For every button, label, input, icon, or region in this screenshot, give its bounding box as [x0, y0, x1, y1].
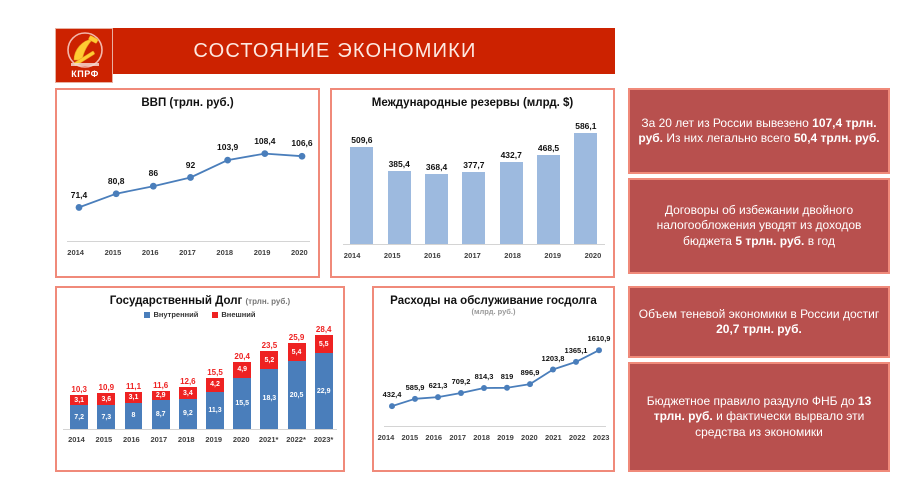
stacked-segment-internal: 7,3	[97, 405, 115, 429]
stacked-segment-internal: 7,2	[70, 405, 88, 429]
bar-group: 385,4	[381, 114, 418, 244]
chart-plot-service: 432,4585,9621,3709,2814,3819896,91203,81…	[374, 316, 613, 444]
data-point-label: 819	[501, 372, 514, 381]
bar	[537, 155, 560, 244]
x-tick-label: 2020	[517, 433, 541, 442]
line-series	[374, 316, 613, 444]
data-point-label: 108,4	[254, 136, 275, 146]
hammer-sickle-icon	[60, 30, 110, 72]
stacked-bar-total-label: 12,6	[180, 377, 196, 386]
stacked-segment-external: 5,2	[260, 351, 278, 368]
data-point	[113, 191, 120, 198]
legend-swatch-external	[212, 312, 218, 318]
x-tick-label: 2019	[494, 433, 518, 442]
legend-swatch-internal	[144, 312, 150, 318]
stacked-bar: 3,67,3	[97, 393, 115, 429]
data-point-label: 86	[149, 168, 158, 178]
x-axis-debt	[63, 429, 338, 430]
x-tick-label: 2017	[145, 435, 172, 444]
bar-value-label: 468,5	[538, 143, 559, 153]
chart-plot-debt: 10,33,17,210,93,67,311,13,1811,62,98,712…	[57, 319, 343, 445]
stacked-bar-total-label: 10,3	[71, 385, 87, 394]
chart-title-reserves: Международные резервы (млрд. $)	[332, 90, 613, 110]
x-axis-labels-reserves: 2014201520162017201820192020	[332, 251, 613, 260]
stacked-segment-internal: 11,3	[206, 392, 224, 429]
bar-value-label: 509,6	[351, 135, 372, 145]
bar-value-label: 368,4	[426, 162, 447, 172]
stacked-bar-group: 20,44,915,5	[229, 319, 256, 429]
data-point-label: 621,3	[429, 381, 448, 390]
stacked-bar-total-label: 23,5	[262, 341, 278, 350]
stacked-segment-external: 4,9	[233, 362, 251, 378]
x-tick-label: 2021	[541, 433, 565, 442]
x-tick-label: 2014	[332, 251, 372, 260]
panel-text: Бюджетное правило раздуло ФНБ до 13 трлн…	[638, 394, 880, 440]
bar-group: 377,7	[455, 114, 492, 244]
x-axis-labels-gdp: 2014201520162017201820192020	[57, 248, 318, 257]
data-point	[224, 157, 231, 164]
bar-group: 468,5	[530, 114, 567, 244]
data-point-label: 896,9	[521, 368, 540, 377]
data-point	[596, 347, 602, 353]
stacked-bar-group: 10,33,17,2	[66, 319, 93, 429]
stacked-segment-external: 5,5	[315, 335, 333, 353]
data-point-label: 432,4	[383, 390, 402, 399]
data-point-label: 103,9	[217, 142, 238, 152]
bar-value-label: 432,7	[501, 150, 522, 160]
fact-panel-capital-outflow: За 20 лет из России вывезено 107,4 трлн.…	[628, 88, 890, 174]
x-tick-label: 2020	[281, 248, 318, 257]
stacked-bar-total-label: 11,1	[126, 382, 141, 391]
stacked-segment-external: 5,4	[288, 343, 306, 361]
x-tick-label: 2018	[470, 433, 494, 442]
stacked-segment-internal: 8,7	[152, 400, 170, 429]
fact-panel-shadow-economy: Объем теневой экономики в России достиг …	[628, 286, 890, 358]
data-point-label: 92	[186, 160, 195, 170]
stacked-bar: 2,98,7	[152, 391, 170, 429]
kprf-logo: КПРФ	[55, 28, 113, 83]
data-point-label: 71,4	[71, 190, 88, 200]
x-tick-label: 2017	[169, 248, 206, 257]
bar-value-label: 586,1	[575, 121, 596, 131]
page-title: СОСТОЯНИЕ ЭКОНОМИКИ	[55, 28, 615, 74]
x-tick-label: 2021*	[255, 435, 282, 444]
bar-group: 432,7	[493, 114, 530, 244]
stacked-bar: 5,420,5	[288, 343, 306, 429]
stacked-bar: 4,915,5	[233, 362, 251, 429]
chart-title-debt: Государственный Долг (трлн. руб.)	[57, 288, 343, 308]
data-point	[550, 367, 556, 373]
stacked-bar: 3,49,2	[179, 387, 197, 429]
chart-plot-gdp: 71,480,88692103,9108,4106,6 201420152016…	[57, 110, 318, 260]
stacked-bar-group: 11,62,98,7	[147, 319, 174, 429]
x-axis-gdp	[67, 241, 310, 242]
data-point-label: 585,9	[406, 383, 425, 392]
stacked-bar-total-label: 15,5	[207, 368, 223, 377]
x-tick-label: 2015	[372, 251, 412, 260]
x-tick-label: 2015	[90, 435, 117, 444]
chart-title-gdp: ВВП (трлн. руб.)	[57, 90, 318, 110]
x-axis-labels-service: 2014201520162017201820192020202120222023	[374, 433, 613, 442]
chart-card-reserves: Международные резервы (млрд. $) 509,6385…	[330, 88, 615, 278]
x-tick-label: 2020	[573, 251, 613, 260]
x-tick-label: 2016	[412, 251, 452, 260]
logo-label: КПРФ	[56, 69, 114, 79]
stacked-bar: 5,522,9	[315, 335, 333, 429]
stacked-bar-group: 23,55,218,3	[256, 319, 283, 429]
panel-text: Договоры об избежании двойного налогообл…	[638, 203, 880, 249]
chart-plot-reserves: 509,6385,4368,4377,7432,7468,5586,1 2014…	[332, 110, 613, 262]
data-point	[150, 183, 157, 190]
stacked-segment-internal: 18,3	[260, 369, 278, 430]
stacked-segment-external: 4,2	[206, 378, 224, 392]
bar-group: 509,6	[343, 114, 380, 244]
chart-card-service: Расходы на обслуживание госдолга (млрд. …	[372, 286, 615, 472]
x-tick-label: 2023*	[310, 435, 337, 444]
bar	[574, 133, 597, 245]
stacked-segment-internal: 9,2	[179, 399, 197, 430]
data-point	[412, 396, 418, 402]
data-point	[76, 204, 83, 211]
stacked-bar-total-label: 28,4	[316, 325, 332, 334]
stacked-bar-group: 15,54,211,3	[201, 319, 228, 429]
data-point	[187, 174, 194, 181]
bar-value-label: 385,4	[389, 159, 410, 169]
chart-legend-debt: Внутренний Внешний	[57, 310, 343, 319]
bar-value-label: 377,7	[463, 160, 484, 170]
x-tick-label: 2014	[57, 248, 94, 257]
stacked-bar-total-label: 10,9	[99, 383, 115, 392]
bar	[462, 172, 485, 244]
panel-text: За 20 лет из России вывезено 107,4 трлн.…	[638, 116, 880, 147]
header-banner: СОСТОЯНИЕ ЭКОНОМИКИ	[55, 28, 615, 74]
x-tick-label: 2015	[94, 248, 131, 257]
chart-card-gdp: ВВП (трлн. руб.) 71,480,88692103,9108,41…	[55, 88, 320, 278]
stacked-segment-external: 3,6	[97, 393, 115, 405]
x-tick-label: 2019	[243, 248, 280, 257]
infographic-page: СОСТОЯНИЕ ЭКОНОМИКИ КПРФ ВВП (трлн. руб.…	[0, 0, 900, 490]
stacked-bar-total-label: 20,4	[234, 352, 250, 361]
stacked-bar-total-label: 25,9	[289, 333, 305, 342]
line-series	[57, 110, 318, 260]
x-tick-label: 2022*	[282, 435, 309, 444]
stacked-bar-group: 10,93,67,3	[93, 319, 120, 429]
x-tick-label: 2016	[132, 248, 169, 257]
stacked-segment-internal: 20,5	[288, 361, 306, 429]
fact-panel-double-taxation: Договоры об избежании двойного налогообл…	[628, 178, 890, 274]
data-point-label: 106,6	[291, 138, 312, 148]
data-point	[435, 394, 441, 400]
stacked-segment-internal: 15,5	[233, 378, 251, 429]
stacked-segment-internal: 8	[125, 403, 143, 430]
stacked-segment-internal: 22,9	[315, 353, 333, 429]
bar	[388, 171, 411, 244]
bar	[425, 174, 448, 244]
x-tick-label: 2014	[374, 433, 398, 442]
fact-panel-budget-rule: Бюджетное правило раздуло ФНБ до 13 трлн…	[628, 362, 890, 472]
data-point	[527, 381, 533, 387]
panel-text: Объем теневой экономики в России достиг …	[638, 307, 880, 338]
data-point	[389, 403, 395, 409]
legend-label-external: Внешний	[221, 310, 255, 319]
chart-unit-service: (млрд. руб.)	[374, 307, 613, 316]
bar	[350, 147, 373, 244]
stacked-bar-total-label: 11,6	[153, 381, 168, 390]
data-point-label: 80,8	[108, 176, 125, 186]
stacked-bar: 4,211,3	[206, 378, 224, 429]
bar-group: 368,4	[418, 114, 455, 244]
legend-item-internal: Внутренний	[144, 310, 198, 319]
x-tick-label: 2019	[533, 251, 573, 260]
data-point-label: 709,2	[452, 377, 471, 386]
x-axis-service	[384, 426, 606, 427]
x-tick-label: 2014	[63, 435, 90, 444]
bar-group: 586,1	[567, 114, 604, 244]
data-point	[504, 385, 510, 391]
stacked-bar: 5,218,3	[260, 351, 278, 429]
data-point-label: 1203,8	[542, 354, 565, 363]
data-point	[299, 153, 306, 160]
x-tick-label: 2018	[173, 435, 200, 444]
stacked-bar-group: 12,63,49,2	[174, 319, 201, 429]
stacked-bar: 3,18	[125, 392, 143, 429]
stacked-bar: 3,17,2	[70, 395, 88, 429]
stacked-segment-external: 2,9	[152, 391, 170, 401]
chart-unit-debt: (трлн. руб.)	[246, 297, 291, 306]
data-point	[261, 150, 268, 157]
chart-card-debt: Государственный Долг (трлн. руб.) Внутре…	[55, 286, 345, 472]
stacked-segment-external: 3,1	[125, 392, 143, 402]
x-tick-label: 2023	[589, 433, 613, 442]
x-tick-label: 2016	[118, 435, 145, 444]
x-axis-reserves	[343, 244, 604, 245]
x-tick-label: 2016	[422, 433, 446, 442]
data-point-label: 1610,9	[588, 334, 611, 343]
data-point-label: 1365,1	[565, 346, 588, 355]
x-tick-label: 2017	[446, 433, 470, 442]
data-point	[458, 390, 464, 396]
x-tick-label: 2020	[227, 435, 254, 444]
x-tick-label: 2018	[206, 248, 243, 257]
x-tick-label: 2017	[452, 251, 492, 260]
x-tick-label: 2022	[565, 433, 589, 442]
data-point	[573, 359, 579, 365]
stacked-bar-group: 11,13,18	[120, 319, 147, 429]
data-point-label: 814,3	[475, 372, 494, 381]
data-point	[481, 385, 487, 391]
x-tick-label: 2015	[398, 433, 422, 442]
x-axis-labels-debt: 20142015201620172018201920202021*2022*20…	[63, 435, 338, 444]
x-tick-label: 2019	[200, 435, 227, 444]
chart-title-debt-main: Государственный Долг	[110, 295, 243, 307]
legend-label-internal: Внутренний	[153, 310, 198, 319]
stacked-segment-external: 3,1	[70, 395, 88, 405]
legend-item-external: Внешний	[212, 310, 255, 319]
bar	[500, 162, 523, 244]
stacked-bar-group: 28,45,522,9	[310, 319, 337, 429]
stacked-bar-group: 25,95,420,5	[283, 319, 310, 429]
chart-title-service: Расходы на обслуживание госдолга	[374, 288, 613, 308]
x-tick-label: 2018	[493, 251, 533, 260]
stacked-segment-external: 3,4	[179, 387, 197, 398]
